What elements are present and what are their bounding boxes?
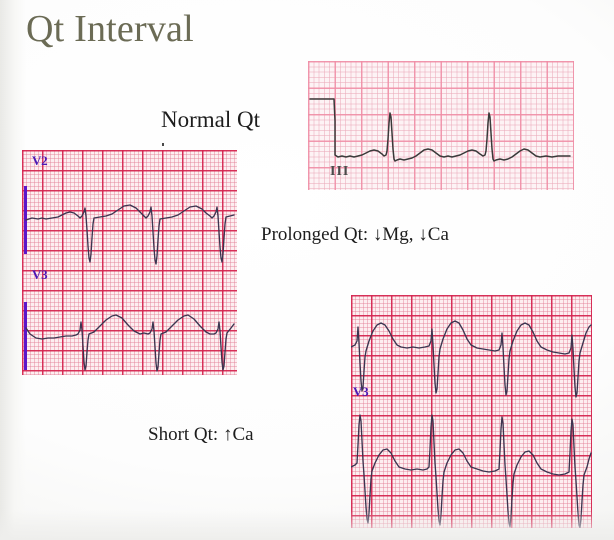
ecg-trace-lead-iii [308, 61, 574, 190]
caption-short-qt: Short Qt: ↑Ca [148, 424, 254, 446]
caption-normal-qt: Normal Qt [161, 107, 260, 133]
caption-prolonged-qt: Prolonged Qt: ↓Mg, ↓Ca [261, 224, 449, 246]
speck-artifact [162, 143, 164, 146]
ecg-trace-v2-v3 [22, 150, 237, 375]
normal-qt-ecg-strip: III [308, 61, 574, 190]
short-qt-ecg-strip: V2 V3 [22, 150, 237, 375]
ecg-trace-prolonged [351, 295, 592, 528]
prolonged-qt-ecg-strip: V3 [351, 295, 592, 528]
slide-canvas: Qt Interval Normal Qt Prolonged Qt: ↓Mg,… [0, 0, 614, 540]
page-title: Qt Interval [26, 7, 194, 51]
